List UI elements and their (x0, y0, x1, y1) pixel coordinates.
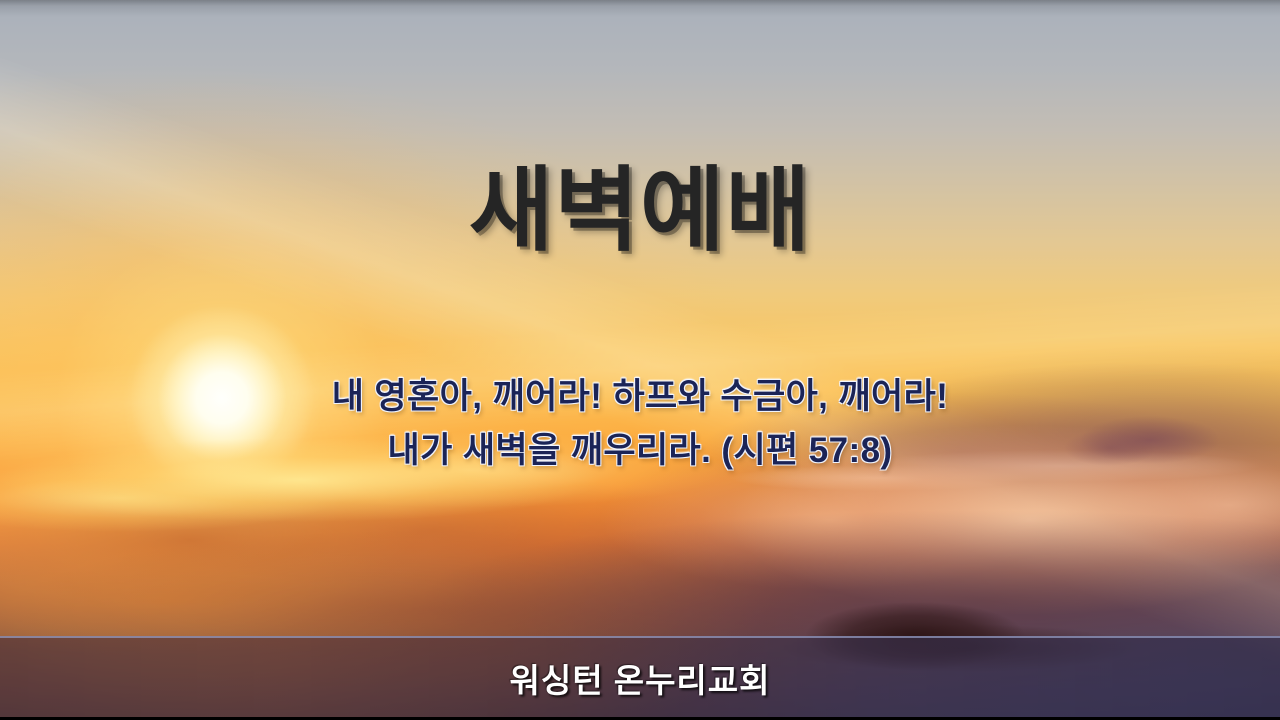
sun-glow (0, 0, 1280, 720)
cloud-puff-upper-right (0, 0, 1280, 720)
church-name-label: 워싱턴 온누리교회 (509, 654, 770, 702)
cloud-bank-lower (0, 0, 1280, 720)
sky-gradient-background (0, 0, 1280, 720)
cloud-bank-right (0, 0, 1280, 720)
verse-line-1: 내 영혼아, 깨어라! 하프와 수금아, 깨어라! (0, 370, 1280, 424)
sun-rays (0, 0, 1280, 720)
cloud-bank-center (0, 0, 1280, 720)
sun-core (0, 0, 1280, 720)
sky-warm-left-cast (0, 0, 1280, 720)
caption-bar: 워싱턴 온누리교회 (0, 636, 1280, 717)
page-title: 새벽예배 (0, 163, 1280, 260)
sky-cool-right-cast (0, 0, 1280, 720)
verse-line-2: 내가 새벽을 깨우리라. (시편 57:8) (0, 424, 1280, 478)
worship-slide: 새벽예배 내 영혼아, 깨어라! 하프와 수금아, 깨어라! 내가 새벽을 깨우… (0, 0, 1280, 720)
top-edge-vignette (0, 0, 1280, 720)
mountain-ridge-silhouette (0, 0, 1280, 720)
scripture-verse: 내 영혼아, 깨어라! 하프와 수금아, 깨어라! 내가 새벽을 깨우리라. (… (0, 370, 1280, 479)
